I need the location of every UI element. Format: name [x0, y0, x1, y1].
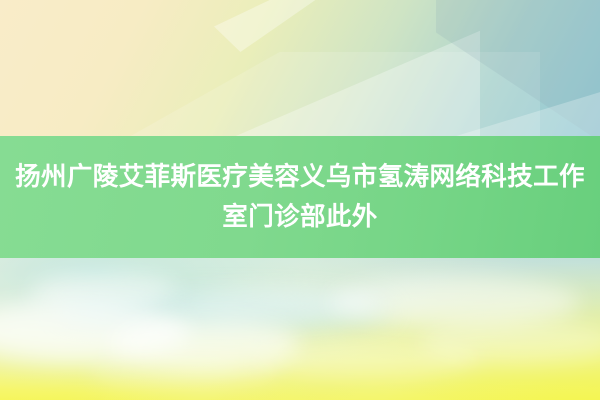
caption-text-block: 扬州广陵艾菲斯医疗美容义乌市氢涛网络科技工作 室门诊部此外: [0, 136, 600, 258]
caption-band: 扬州广陵艾菲斯医疗美容义乌市氢涛网络科技工作 室门诊部此外: [0, 136, 600, 258]
caption-line-2: 室门诊部此外: [222, 204, 377, 230]
image-canvas: 扬州广陵艾菲斯医疗美容义乌市氢涛网络科技工作 室门诊部此外: [0, 0, 600, 400]
caption-line-1: 扬州广陵艾菲斯医疗美容义乌市氢涛网络科技工作: [15, 164, 585, 190]
